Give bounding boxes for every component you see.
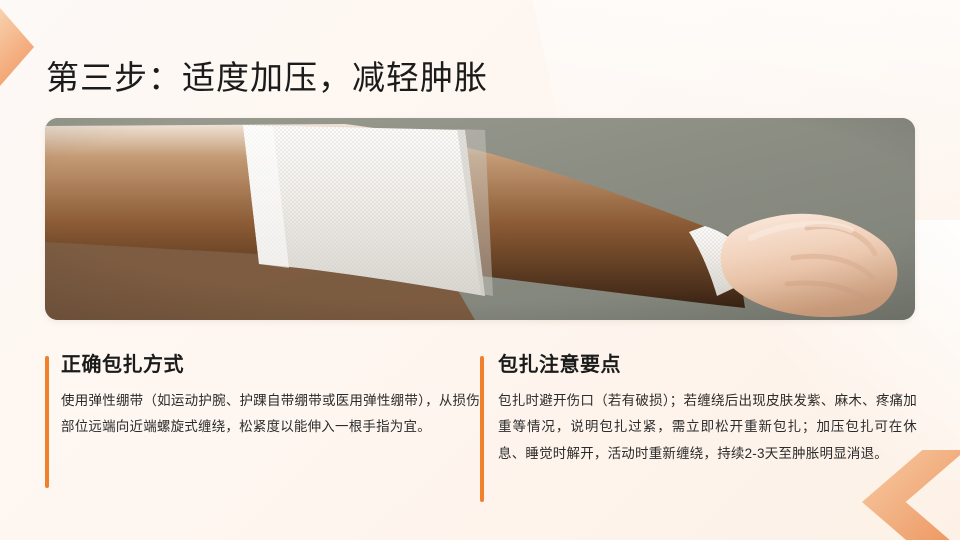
column-precautions: 包扎注意要点 包扎时避开伤口（若有破损）；若缠绕后出现皮肤发紫、麻木、疼痛加重等… <box>480 353 917 467</box>
accent-bar-right <box>480 356 484 502</box>
hero-image-illustration <box>45 118 915 320</box>
page-title: 第三步：适度加压，减轻肿胀 <box>46 58 488 98</box>
section-body-right: 包扎时避开伤口（若有破损）；若缠绕后出现皮肤发紫、麻木、疼痛加重等情况，说明包扎… <box>498 388 917 467</box>
section-body-left: 使用弹性绷带（如运动护腕、护踝自带绷带或医用弹性绷带），从损伤部位远端向近端螺旋… <box>61 388 480 441</box>
hero-image <box>45 118 915 320</box>
accent-bar-left <box>45 356 49 488</box>
content-columns: 正确包扎方式 使用弹性绷带（如运动护腕、护踝自带绷带或医用弹性绷带），从损伤部位… <box>45 353 917 467</box>
column-correct-method: 正确包扎方式 使用弹性绷带（如运动护腕、护踝自带绷带或医用弹性绷带），从损伤部位… <box>45 353 480 467</box>
section-heading-right: 包扎注意要点 <box>498 353 917 377</box>
section-heading-left: 正确包扎方式 <box>61 353 480 377</box>
triangle-right-arrow-icon <box>0 8 34 86</box>
slide-canvas: 第三步：适度加压，减轻肿胀 <box>0 0 960 540</box>
